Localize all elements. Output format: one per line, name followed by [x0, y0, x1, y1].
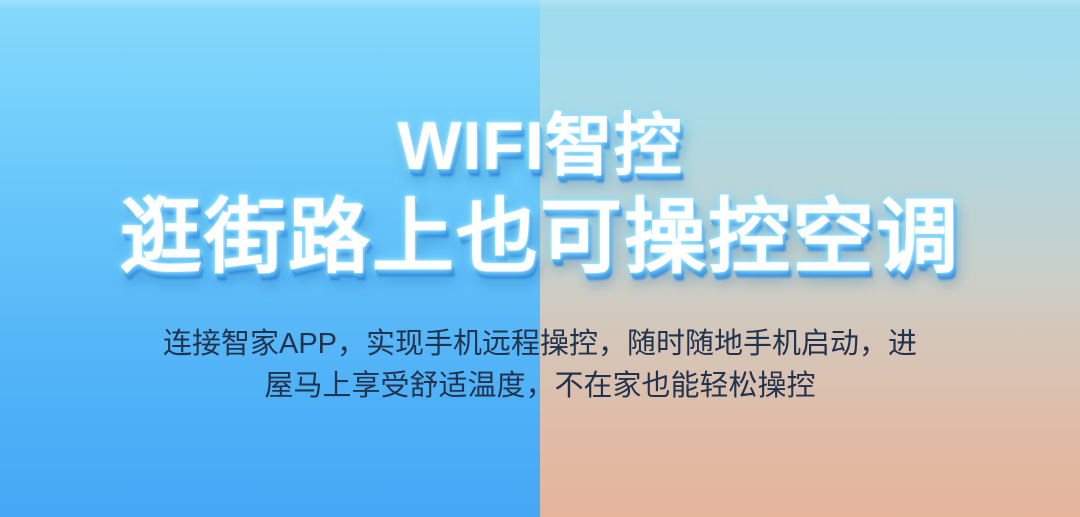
- description-block: 连接智家APP，实现手机远程操控，随时随地手机启动，进 屋马上享受舒适温度，不在…: [90, 323, 990, 407]
- description-line-1: 连接智家APP，实现手机远程操控，随时随地手机启动，进: [90, 323, 990, 365]
- headline-secondary: 逛街路上也可操控空调: [0, 197, 1080, 279]
- promo-banner: WIFI智控 逛街路上也可操控空调 连接智家APP，实现手机远程操控，随时随地手…: [0, 0, 1080, 517]
- headline-primary: WIFI智控: [0, 112, 1080, 180]
- banner-content: WIFI智控 逛街路上也可操控空调 连接智家APP，实现手机远程操控，随时随地手…: [0, 0, 1080, 517]
- description-line-2: 屋马上享受舒适温度，不在家也能轻松操控: [90, 365, 990, 407]
